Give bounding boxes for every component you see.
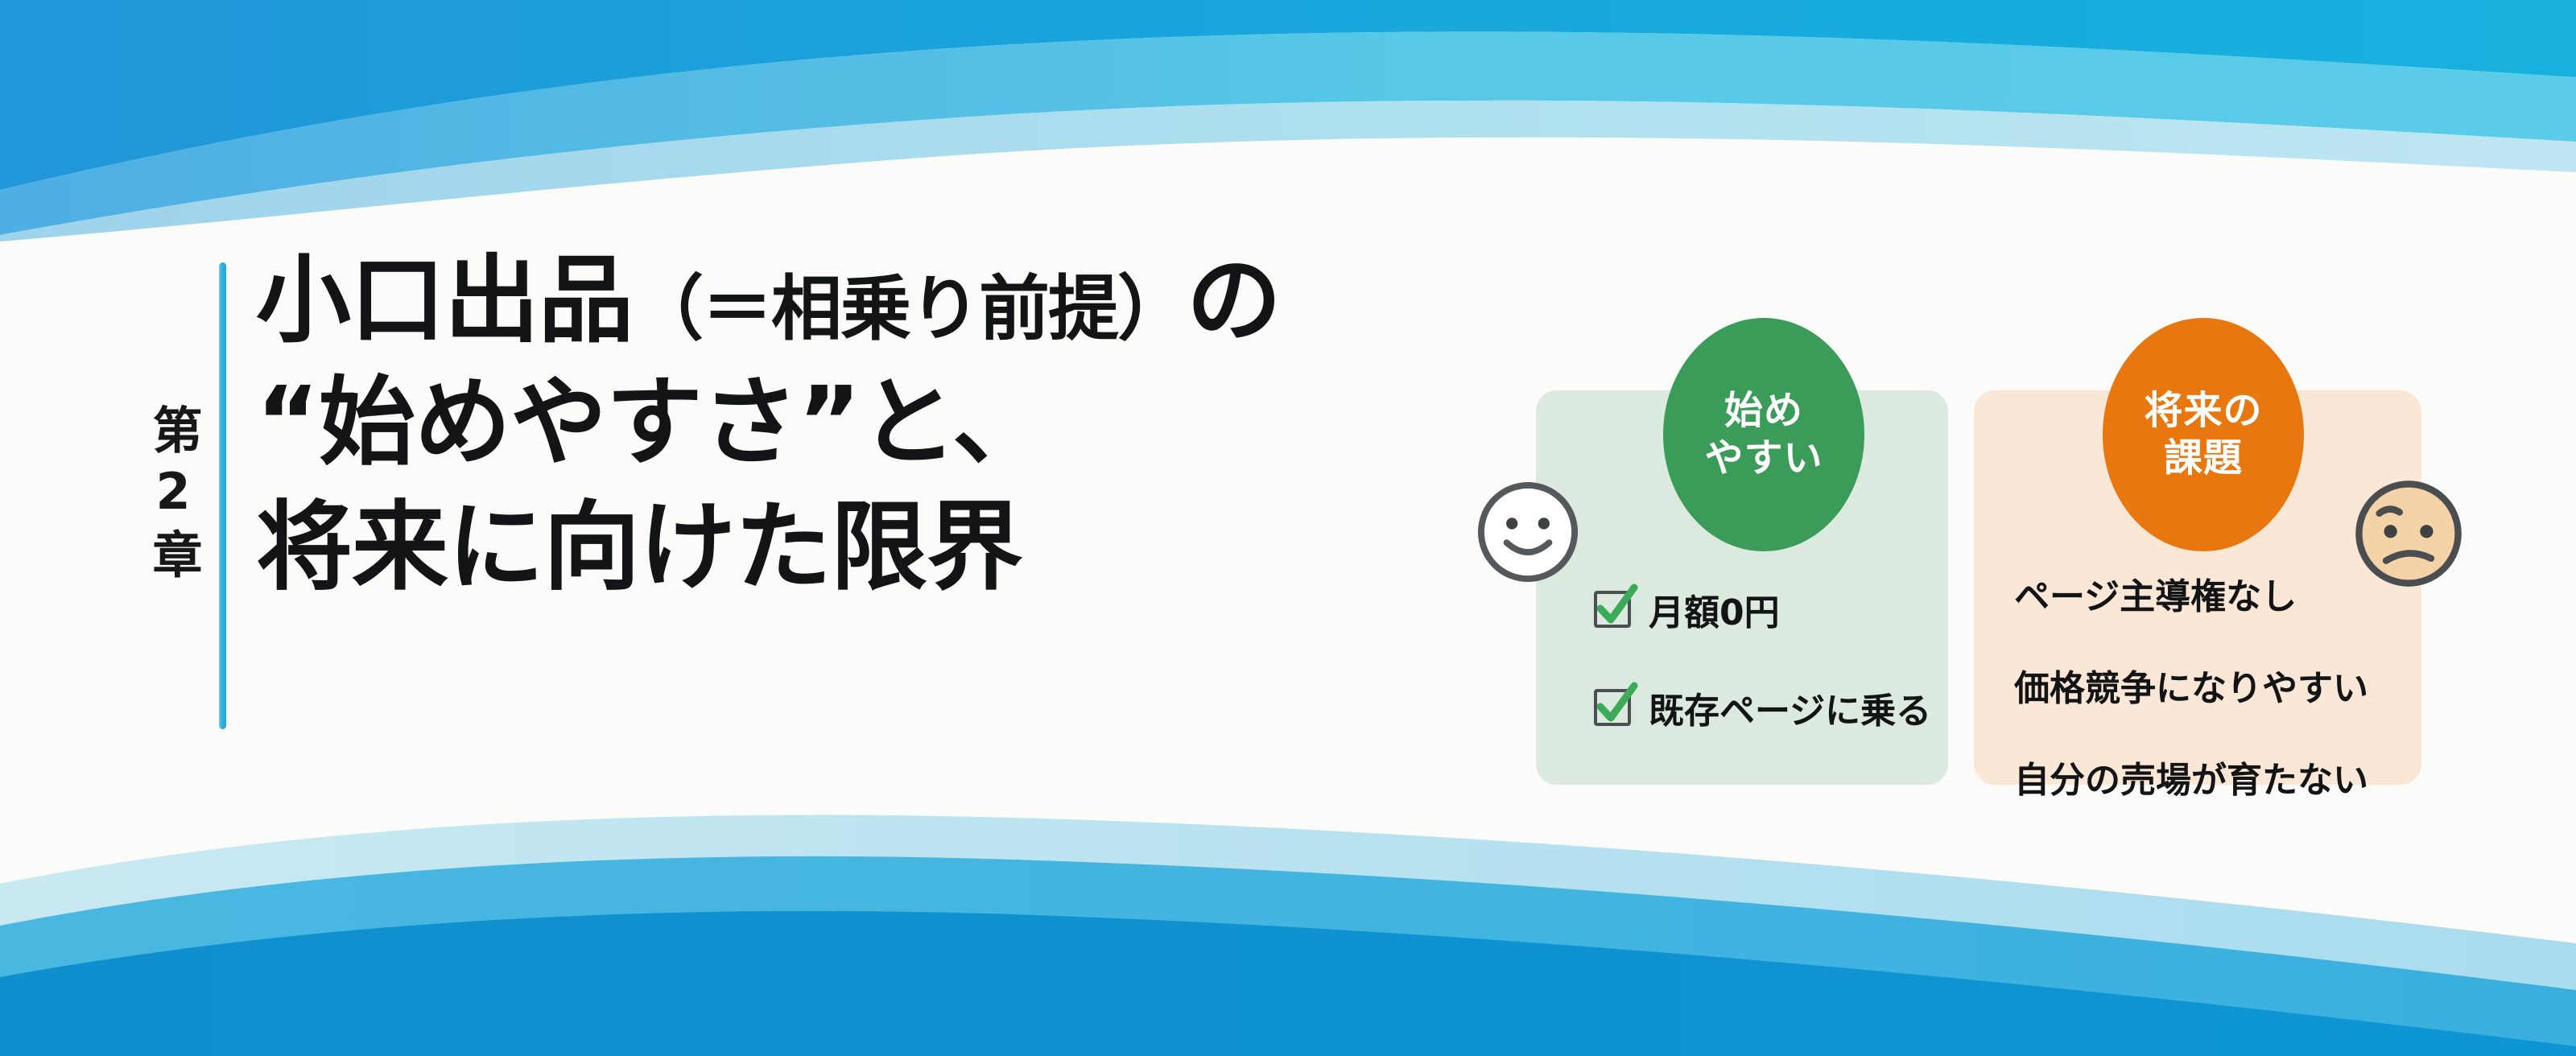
- smiling-face-icon: [1475, 479, 1581, 585]
- future-issues-badge-line2: 課題: [2164, 435, 2243, 482]
- future-issues-badge-line1: 将来の: [2144, 387, 2262, 435]
- chapter-label: 第2章: [147, 404, 199, 587]
- bottom-wave-band-light: [0, 815, 2576, 1056]
- title-line-1-main: 小口出品: [256, 245, 633, 356]
- list-item: ページ主導権なし: [2014, 567, 2368, 619]
- good-points-badge-line1: 始め: [1724, 387, 1803, 435]
- list-item: 価格競争になりやすい: [2014, 659, 2368, 711]
- worried-face-icon: [2352, 477, 2465, 590]
- future-issues-badge: 将来の 課題: [2103, 318, 2304, 551]
- comparison-panel: 始め やすい 将来の 課題: [1529, 318, 2463, 801]
- title-line-2: “始めやすさ”と、: [256, 364, 1528, 484]
- good-points-badge: 始め やすい: [1663, 318, 1864, 551]
- top-wave-decoration: [0, 0, 2576, 241]
- bottom-wave-band-deep: [0, 911, 2576, 1056]
- list-item: 月額0円: [1594, 584, 1931, 635]
- good-points-badge-line2: やすい: [1704, 435, 1823, 482]
- chapter-divider-line: [219, 262, 226, 729]
- slide-canvas: 第2章 小口出品（＝相乗り前提）の “始めやすさ”と、 将来に向けた限界 始め …: [0, 0, 2576, 1056]
- list-item: 自分の売場が育たない: [2014, 751, 2368, 802]
- list-item-label: 月額0円: [1649, 584, 1780, 635]
- page-title: 小口出品（＝相乗り前提）の “始めやすさ”と、 将来に向けた限界: [256, 241, 1528, 608]
- top-wave-svg: [0, 0, 2576, 241]
- top-wave-band-light: [0, 101, 2576, 241]
- title-line-1-sub: （＝相乗り前提）: [633, 267, 1187, 350]
- bottom-wave-band-mid: [0, 856, 2576, 1056]
- list-item-label: 既存ページに乗る: [1649, 682, 1931, 733]
- bottom-wave-svg: [0, 790, 2576, 1056]
- title-line-3: 将来に向けた限界: [256, 489, 1528, 608]
- future-issues-list: ページ主導権なし 価格競争になりやすい 自分の売場が育たない: [2014, 567, 2368, 802]
- list-item: 既存ページに乗る: [1594, 682, 1931, 733]
- top-wave-band-deep: [0, 0, 2576, 190]
- top-wave-band-mid: [0, 31, 2576, 235]
- checkbox-checked-icon: [1594, 689, 1631, 726]
- chapter-badge: 第2章: [121, 258, 225, 732]
- good-points-list: 月額0円 既存ページに乗る: [1594, 584, 1931, 733]
- title-line-1: 小口出品（＝相乗り前提）の: [256, 241, 1528, 359]
- bottom-wave-decoration: [0, 790, 2576, 1056]
- checkbox-checked-icon: [1594, 591, 1631, 628]
- title-line-1-tail: の: [1187, 245, 1281, 356]
